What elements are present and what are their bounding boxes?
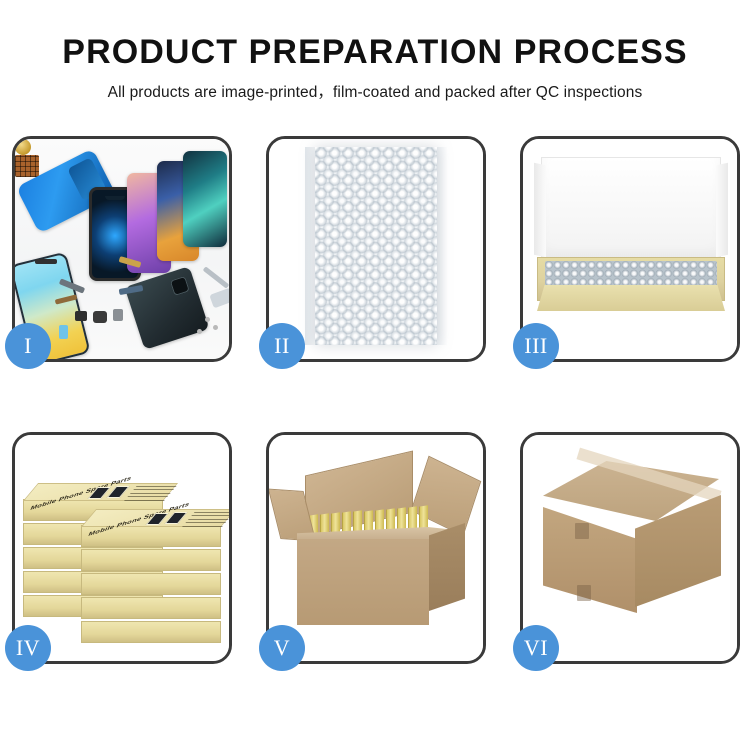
step-panel-4: Mobile Phone Spare Parts bbox=[12, 432, 232, 664]
step-image-products bbox=[15, 139, 229, 359]
step-badge-3: III bbox=[513, 323, 559, 369]
earpiece-speaker-icon bbox=[35, 259, 57, 264]
component-chip-icon bbox=[113, 309, 123, 321]
header: PRODUCT PREPARATION PROCESS All products… bbox=[0, 0, 750, 102]
steps-grid: I II III bbox=[12, 136, 738, 696]
step-image-inner-box bbox=[523, 139, 737, 359]
spare-parts-box: Mobile Phone Spare Parts bbox=[81, 525, 221, 547]
step-panel-5: V bbox=[266, 432, 486, 664]
step-panel-2: II bbox=[266, 136, 486, 362]
carton-seam-icon bbox=[575, 523, 589, 539]
spare-parts-box-lid: Mobile Phone Spare Parts bbox=[81, 509, 229, 527]
step-image-sealed-carton bbox=[523, 435, 737, 661]
component-chip-icon bbox=[93, 311, 107, 323]
step-image-stacked-boxes: Mobile Phone Spare Parts bbox=[15, 435, 229, 661]
screw-icon bbox=[213, 325, 218, 330]
carton-front-icon bbox=[297, 539, 429, 625]
screw-icon bbox=[197, 329, 202, 334]
screwdriver-icon bbox=[209, 288, 229, 309]
spare-parts-box bbox=[81, 549, 221, 571]
box-front-panel-icon bbox=[537, 285, 725, 311]
box-lid-icon bbox=[541, 157, 721, 261]
carton-seam-icon bbox=[577, 585, 591, 601]
step-badge-2: II bbox=[259, 323, 305, 369]
step-panel-3: III bbox=[520, 136, 740, 362]
page-subtitle: All products are image-printed，film-coat… bbox=[0, 80, 750, 102]
step-panel-1: I bbox=[12, 136, 232, 362]
copper-mesh-icon bbox=[15, 155, 39, 177]
step-panel-6: VI bbox=[520, 432, 740, 664]
spare-parts-box bbox=[81, 621, 221, 643]
step-badge-5: V bbox=[259, 625, 305, 671]
spare-parts-box bbox=[81, 573, 221, 595]
box-stack: Mobile Phone Spare Parts bbox=[21, 445, 229, 645]
step-badge-1: I bbox=[5, 323, 51, 369]
component-chip-icon bbox=[75, 311, 87, 321]
battery-icon bbox=[59, 325, 68, 339]
screw-icon bbox=[205, 317, 210, 322]
page-title: PRODUCT PREPARATION PROCESS bbox=[0, 34, 750, 71]
spare-parts-box-lid: Mobile Phone Spare Parts bbox=[23, 483, 178, 501]
box-spec-lines bbox=[180, 512, 229, 529]
box-spec-lines bbox=[122, 486, 176, 503]
phone-teal-icon bbox=[183, 151, 227, 247]
carton-side-icon bbox=[429, 523, 465, 611]
vibration-motor-icon bbox=[15, 139, 31, 155]
step-image-carton-filling bbox=[269, 435, 483, 661]
step-image-bubble-wrap bbox=[269, 139, 483, 359]
step-badge-6: VI bbox=[513, 625, 559, 671]
product-preparation-infographic: PRODUCT PREPARATION PROCESS All products… bbox=[0, 0, 750, 750]
bubble-wrap-sheet-icon bbox=[315, 147, 437, 345]
tweezers-icon bbox=[203, 266, 229, 288]
step-badge-4: IV bbox=[5, 625, 51, 671]
spare-parts-box bbox=[81, 597, 221, 619]
